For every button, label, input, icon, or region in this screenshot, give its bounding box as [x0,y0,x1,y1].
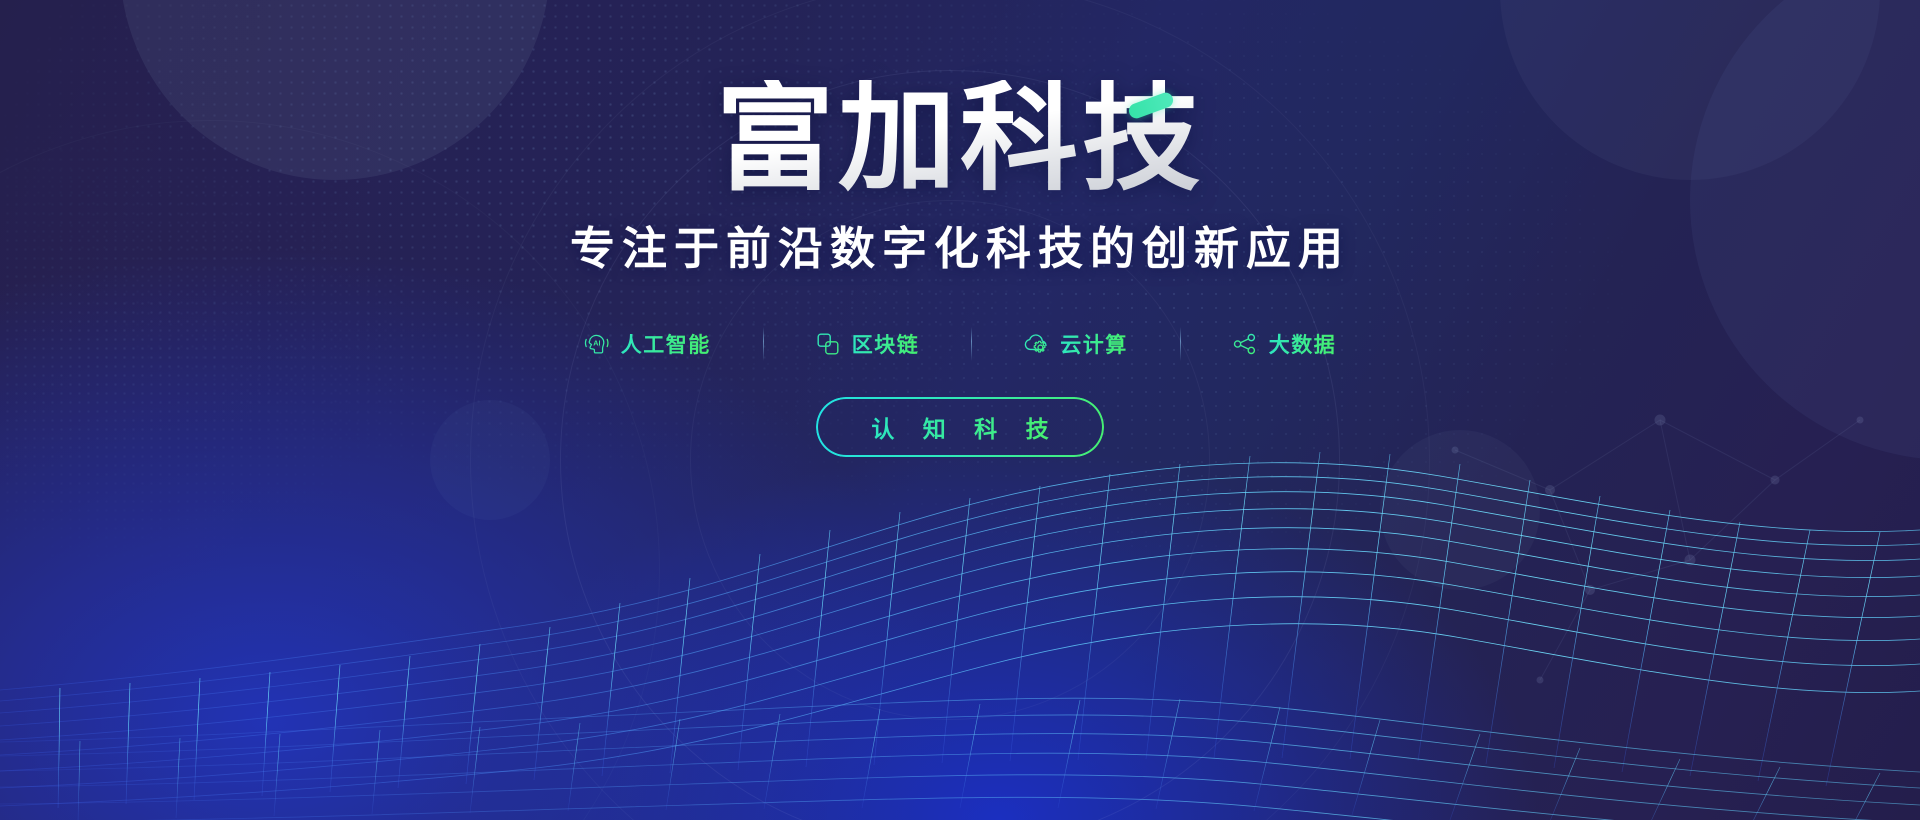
hero-subtitle: 专注于前沿数字化科技的创新应用 [570,226,1350,271]
cloud-gear-icon [1023,331,1049,357]
brand-logo-text: 富加科技 [716,73,1204,205]
tag-label: 云计算 [1060,329,1128,359]
ai-head-icon: AI [584,331,610,357]
cognitive-tech-button[interactable]: 认 知 科 技 [816,397,1103,457]
tag-artificial-intelligence[interactable]: AI 人工智能 [532,329,763,359]
tag-cloud-computing[interactable]: 云计算 [971,329,1180,359]
cognitive-tech-button-label: 认 知 科 技 [860,410,1059,444]
tag-big-data[interactable]: 大数据 [1180,329,1389,359]
tech-tag-list: AI 人工智能 区块链 云计算 [532,327,1389,361]
hero-banner: 富加科技 专注于前沿数字化科技的创新应用 AI 人工智能 [0,0,1920,820]
tag-label: 区块链 [852,329,920,359]
cta-area: 认 知 科 技 [816,397,1103,457]
tag-blockchain[interactable]: 区块链 [763,329,972,359]
brand-logo-wordmark: 富加科技 [716,80,1204,198]
tag-label: 大数据 [1269,329,1337,359]
hero-content: 富加科技 专注于前沿数字化科技的创新应用 AI 人工智能 [0,0,1920,820]
blockchain-icon [815,331,841,357]
tag-label: 人工智能 [621,329,711,359]
share-nodes-icon [1232,331,1258,357]
ai-icon-label: AI [593,338,600,347]
